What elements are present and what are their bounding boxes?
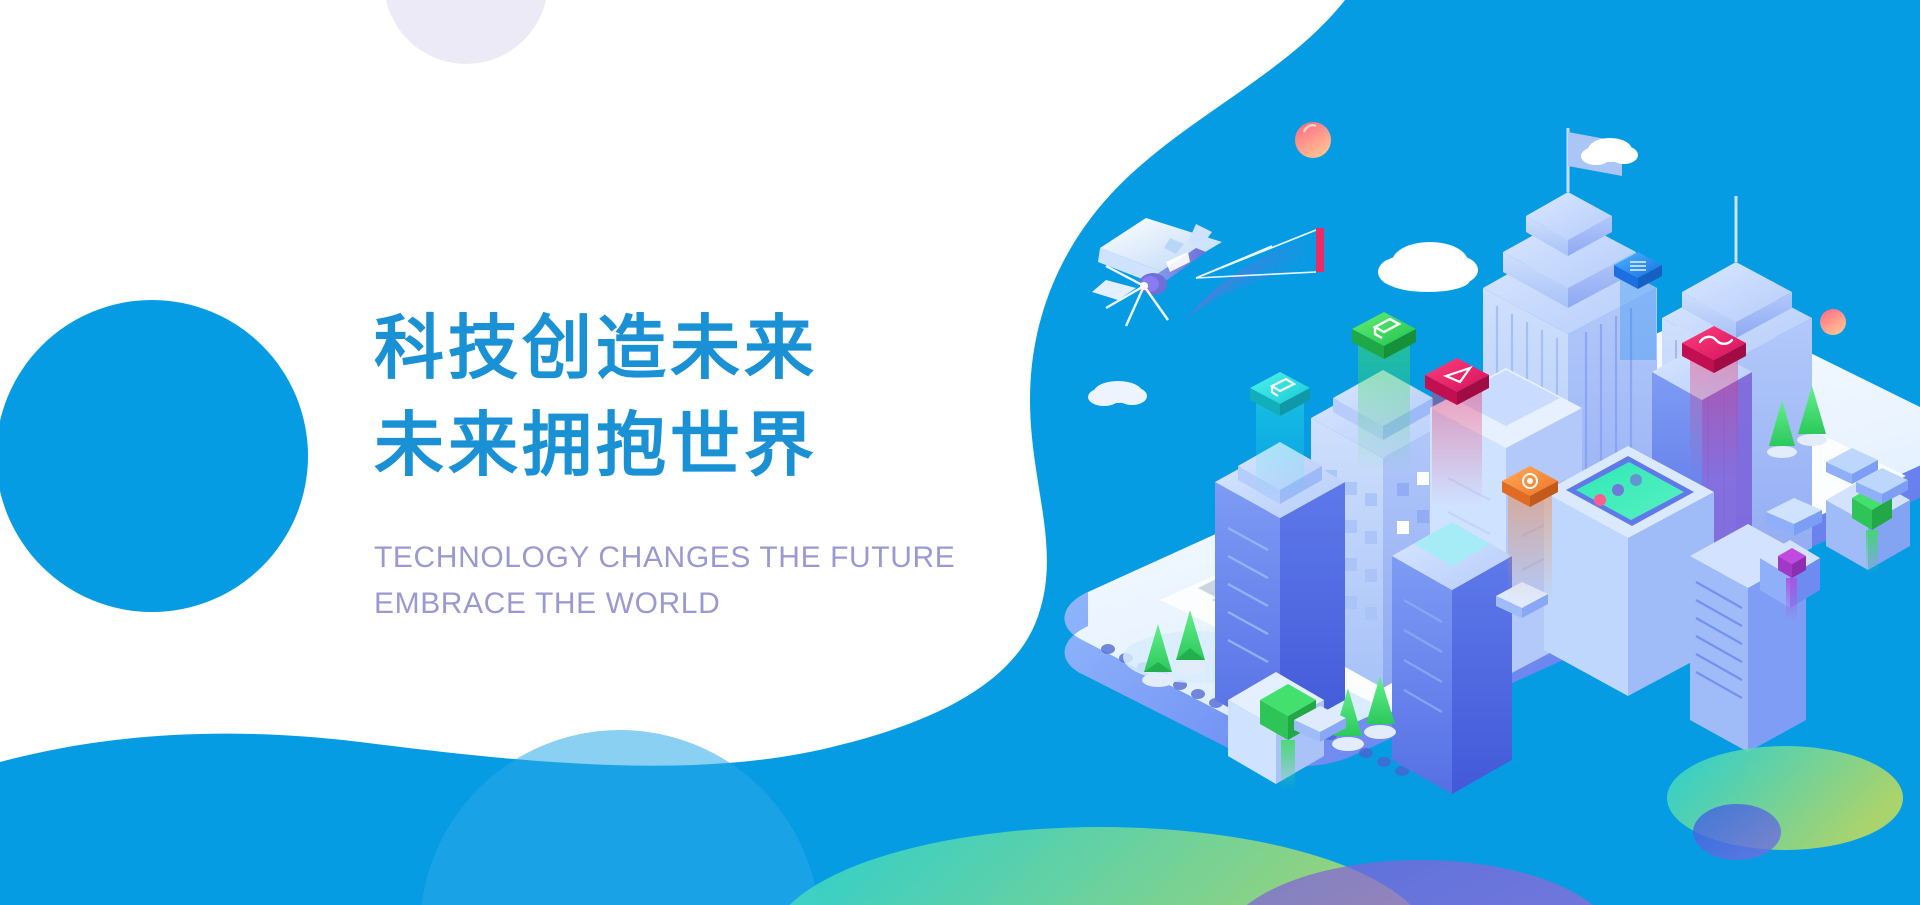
subtitle-line-1: TECHNOLOGY CHANGES THE FUTURE [374,535,1054,581]
headline-line-2: 未来拥抱世界 [374,397,1054,494]
subtitle-block: TECHNOLOGY CHANGES THE FUTURE EMBRACE TH… [374,535,1054,626]
banner-canvas: 科技创造未来 未来拥抱世界 TECHNOLOGY CHANGES THE FUT… [0,0,1920,905]
headline-line-1: 科技创造未来 [374,300,1054,397]
decor-ellipse-blue-right [1693,804,1781,860]
subtitle-line-2: EMBRACE THE WORLD [374,581,1054,627]
banner-text-block: 科技创造未来 未来拥抱世界 TECHNOLOGY CHANGES THE FUT… [374,300,1054,626]
